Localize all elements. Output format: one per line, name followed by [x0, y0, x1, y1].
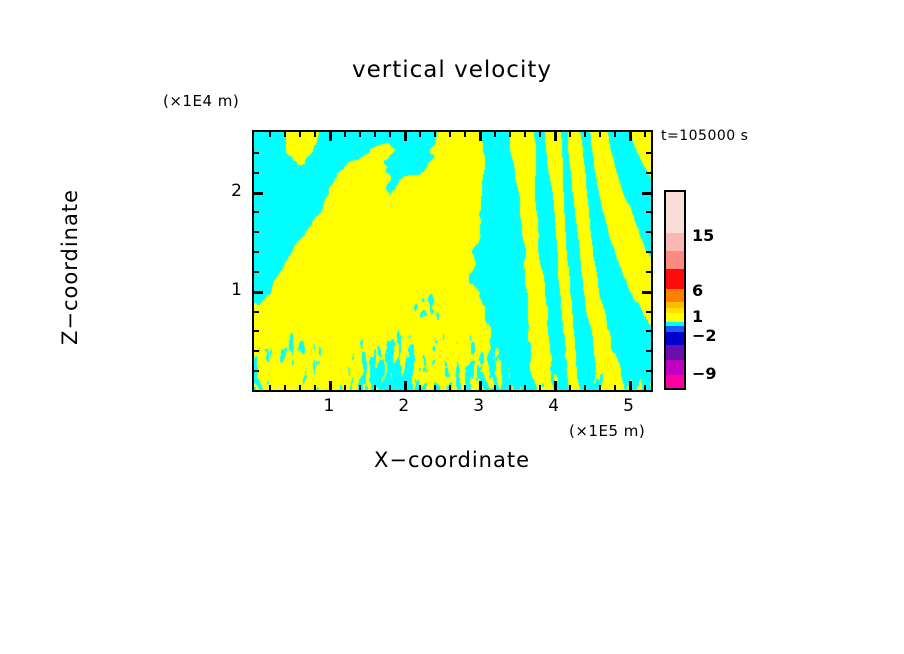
axis-tick [254, 152, 259, 154]
axis-tick [509, 132, 511, 137]
colorbar-band [666, 313, 684, 321]
axis-tick [644, 132, 646, 137]
axis-tick [584, 385, 586, 390]
axis-tick [254, 251, 259, 253]
axis-tick [329, 132, 332, 141]
axis-tick [254, 311, 259, 313]
axis-tick [299, 385, 301, 390]
axis-tick [374, 132, 376, 137]
page-title: vertical velocity [0, 57, 904, 83]
axis-tick [646, 330, 651, 332]
vertical-velocity-field [254, 132, 651, 390]
x-tick-label: 3 [464, 396, 494, 416]
axis-tick [419, 132, 421, 137]
axis-tick [494, 132, 496, 137]
axis-tick [599, 385, 601, 390]
axis-tick [646, 271, 651, 273]
axis-tick [314, 385, 316, 390]
colorbar-band [666, 360, 684, 375]
axis-tick [254, 291, 263, 294]
axis-tick [584, 132, 586, 137]
axis-tick [599, 132, 601, 137]
axis-tick [644, 385, 646, 390]
axis-tick [284, 385, 286, 390]
axis-tick [524, 132, 526, 137]
axis-tick [646, 350, 651, 352]
x-tick-label: 1 [314, 396, 344, 416]
contour-plot-area [252, 130, 653, 392]
axis-tick [646, 370, 651, 372]
colorbar [664, 190, 686, 390]
axis-tick [464, 132, 466, 137]
axis-tick [359, 132, 361, 137]
axis-tick [629, 381, 632, 390]
x-tick-label: 5 [614, 396, 644, 416]
axis-tick [299, 132, 301, 137]
colorbar-band [666, 192, 684, 233]
axis-tick [569, 132, 571, 137]
axis-tick [389, 385, 391, 390]
axis-tick [642, 192, 651, 195]
colorbar-band [666, 251, 684, 269]
axis-tick [254, 172, 259, 174]
axis-tick [646, 211, 651, 213]
axis-tick [419, 385, 421, 390]
axis-tick [254, 370, 259, 372]
colorbar-band [666, 375, 684, 388]
x-tick-label: 2 [389, 396, 419, 416]
axis-tick [344, 132, 346, 137]
axis-tick [404, 132, 407, 141]
axis-tick [479, 381, 482, 390]
axis-tick [254, 211, 259, 213]
axis-tick [434, 385, 436, 390]
axis-tick [646, 172, 651, 174]
colorbar-band [666, 269, 684, 290]
axis-tick [254, 350, 259, 352]
axis-tick [629, 132, 632, 141]
axis-tick [646, 231, 651, 233]
axis-tick [539, 132, 541, 137]
axis-tick [449, 132, 451, 137]
axis-tick [284, 132, 286, 137]
axis-tick [539, 385, 541, 390]
axis-tick [374, 385, 376, 390]
axis-tick [329, 381, 332, 390]
colorbar-tick-label: 1 [692, 307, 703, 326]
axis-tick [269, 385, 271, 390]
y-tick-label: 1 [212, 280, 242, 300]
axis-tick [464, 385, 466, 390]
time-annotation: t=105000 s [661, 128, 748, 144]
axis-tick [254, 192, 263, 195]
axis-tick [614, 385, 616, 390]
axis-tick [254, 271, 259, 273]
axis-tick [509, 385, 511, 390]
colorbar-tick-label: 15 [692, 226, 714, 245]
axis-tick [646, 311, 651, 313]
axis-tick [642, 291, 651, 294]
x-tick-label: 4 [539, 396, 569, 416]
colorbar-tick-label: −2 [692, 326, 717, 345]
colorbar-band [666, 233, 684, 251]
axis-tick [614, 132, 616, 137]
axis-tick [254, 330, 259, 332]
colorbar-tick-label: −9 [692, 364, 717, 383]
axis-tick [404, 381, 407, 390]
axis-tick [646, 152, 651, 154]
axis-tick [254, 231, 259, 233]
y-axis-units-label: (×1E4 m) [163, 92, 239, 110]
axis-tick [569, 385, 571, 390]
axis-tick [554, 132, 557, 141]
axis-tick [359, 385, 361, 390]
colorbar-tick-label: 6 [692, 281, 703, 300]
axis-tick [449, 385, 451, 390]
axis-tick [269, 132, 271, 137]
colorbar-band [666, 345, 684, 360]
colorbar-band [666, 332, 684, 345]
x-axis-title: X−coordinate [0, 448, 904, 472]
axis-tick [646, 251, 651, 253]
axis-tick [554, 381, 557, 390]
axis-tick [314, 132, 316, 137]
axis-tick [344, 385, 346, 390]
x-axis-units-label: (×1E5 m) [569, 422, 645, 440]
axis-tick [524, 385, 526, 390]
axis-tick [479, 132, 482, 141]
axis-tick [494, 385, 496, 390]
y-axis-title: Z−coordinate [58, 137, 82, 397]
axis-tick [389, 132, 391, 137]
axis-tick [434, 132, 436, 137]
colorbar-band [666, 289, 684, 302]
y-tick-label: 2 [212, 181, 242, 201]
